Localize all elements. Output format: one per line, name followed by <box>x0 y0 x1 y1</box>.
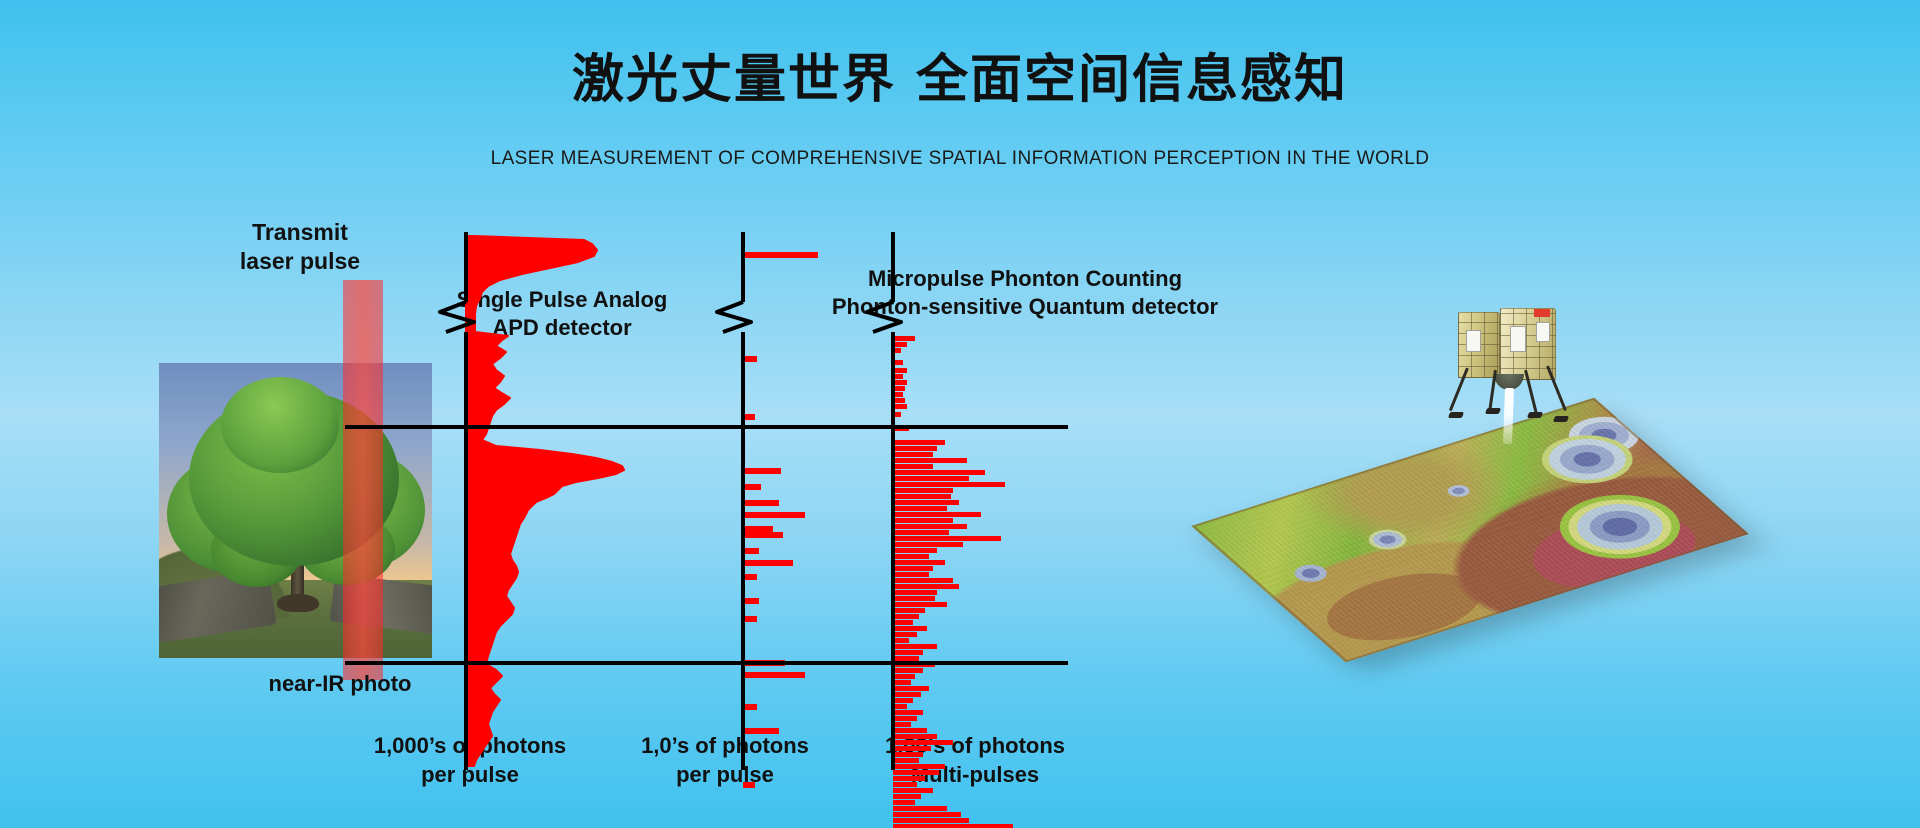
photon-count-spike <box>743 484 761 490</box>
photon-count-spike <box>893 752 923 757</box>
lunar-terrain-scene <box>1195 310 1775 740</box>
photon-count-spike <box>743 782 755 788</box>
photon-count-spike <box>743 500 779 506</box>
photon-count-spike <box>743 512 805 518</box>
photon-count-spike <box>893 464 933 469</box>
photon-count-spike <box>893 764 945 769</box>
photon-count-spike <box>743 560 793 566</box>
photon-count-spike <box>893 620 913 625</box>
photon-count-spike <box>743 704 757 710</box>
lander-foot <box>1527 412 1543 418</box>
lander-foot <box>1485 408 1501 414</box>
photon-count-spike <box>893 734 937 739</box>
analog-waveform-fill <box>466 236 624 766</box>
dem-terrain-surface <box>1191 398 1748 663</box>
photon-count-spike <box>893 494 951 499</box>
photon-count-spike <box>743 356 757 362</box>
photon-count-spike <box>893 530 949 535</box>
photon-count-spike <box>893 596 935 601</box>
photon-count-spike <box>893 806 947 811</box>
lunar-lander <box>1450 308 1566 428</box>
photon-count-spike <box>893 500 959 505</box>
lander-foot <box>1553 416 1569 422</box>
photon-count-spike <box>893 794 921 799</box>
photon-count-spike <box>893 650 923 655</box>
photon-count-spike <box>743 598 759 604</box>
photon-count-spike <box>893 470 985 475</box>
photon-count-spike <box>893 440 945 445</box>
poster-stage: 激光丈量世界 全面空间信息感知 LASER MEASUREMENT OF COM… <box>0 0 1920 828</box>
photon-count-spike <box>893 380 907 385</box>
photon-count-spike <box>893 704 907 709</box>
photon-count-spike <box>893 698 913 703</box>
photon-count-spike <box>893 692 921 697</box>
photon-count-spike <box>893 812 961 817</box>
photon-count-spike <box>893 458 967 463</box>
photon-count-spike <box>893 524 967 529</box>
photon-count-spike <box>893 572 929 577</box>
photon-count-spike <box>893 776 925 781</box>
photon-count-spike <box>893 710 923 715</box>
lander-red-marking <box>1534 309 1550 317</box>
photon-count-spike <box>893 824 1013 828</box>
photon-count-spike <box>743 252 818 258</box>
terrain-edge <box>1191 398 1748 663</box>
photon-count-spike <box>743 526 773 532</box>
photon-count-spike <box>893 506 947 511</box>
photon-count-spike <box>893 482 1005 487</box>
photon-count-spike <box>893 488 953 493</box>
photon-count-spike <box>893 800 915 805</box>
photon-count-spike <box>893 512 981 517</box>
photon-count-spike <box>893 548 937 553</box>
photon-count-spike <box>893 542 963 547</box>
photon-count-spike <box>893 638 909 643</box>
photon-count-spike <box>743 548 759 554</box>
photon-count-spike <box>893 668 923 673</box>
photon-count-spike <box>893 716 917 721</box>
photon-count-spike <box>893 626 927 631</box>
axis-break-zigzag <box>717 302 751 332</box>
photon-count-spike <box>893 656 919 661</box>
photon-count-spike <box>893 446 937 451</box>
photon-count-spike <box>743 574 757 580</box>
photon-count-spike <box>893 536 1001 541</box>
photon-count-spike <box>893 560 945 565</box>
photon-count-spike <box>893 740 953 745</box>
photon-count-spike <box>893 818 969 823</box>
photon-count-spike <box>893 728 927 733</box>
photon-count-spike <box>893 788 933 793</box>
photon-count-spike <box>743 672 805 678</box>
photon-count-spike <box>893 518 953 523</box>
photon-count-spike <box>893 608 925 613</box>
photon-count-spike <box>893 590 937 595</box>
photon-count-spike <box>893 770 939 775</box>
photon-count-spike <box>743 728 779 734</box>
photon-count-spike <box>893 632 917 637</box>
photon-count-spike <box>893 368 907 373</box>
axis-break-zigzag <box>867 302 901 332</box>
lander-leg <box>1546 365 1567 411</box>
photon-count-spike <box>893 584 959 589</box>
photon-count-spike <box>893 566 933 571</box>
lander-foot <box>1448 412 1464 418</box>
lander-instrument-panel <box>1466 330 1481 352</box>
photon-count-spike <box>893 722 911 727</box>
photon-count-spike <box>893 336 915 341</box>
photon-count-spike <box>893 644 937 649</box>
photon-count-spike <box>893 614 919 619</box>
photon-count-spike <box>893 602 947 607</box>
photon-count-spike <box>893 476 969 481</box>
photon-count-spike <box>893 342 907 347</box>
photon-count-spike <box>893 782 917 787</box>
lander-instrument-panel <box>1510 326 1526 352</box>
photon-count-spike <box>893 680 911 685</box>
photon-count-spike <box>893 674 915 679</box>
photon-count-spike <box>893 758 919 763</box>
lander-instrument-panel <box>1536 322 1550 342</box>
photon-count-spike <box>893 452 933 457</box>
photon-count-spike <box>743 616 757 622</box>
photon-count-spike <box>893 404 907 409</box>
photon-count-spike <box>893 686 929 691</box>
photon-count-spike <box>893 554 929 559</box>
photon-count-spike <box>893 578 953 583</box>
photon-count-spike <box>743 532 783 538</box>
photon-count-spike <box>893 746 931 751</box>
photon-count-spike <box>743 468 781 474</box>
